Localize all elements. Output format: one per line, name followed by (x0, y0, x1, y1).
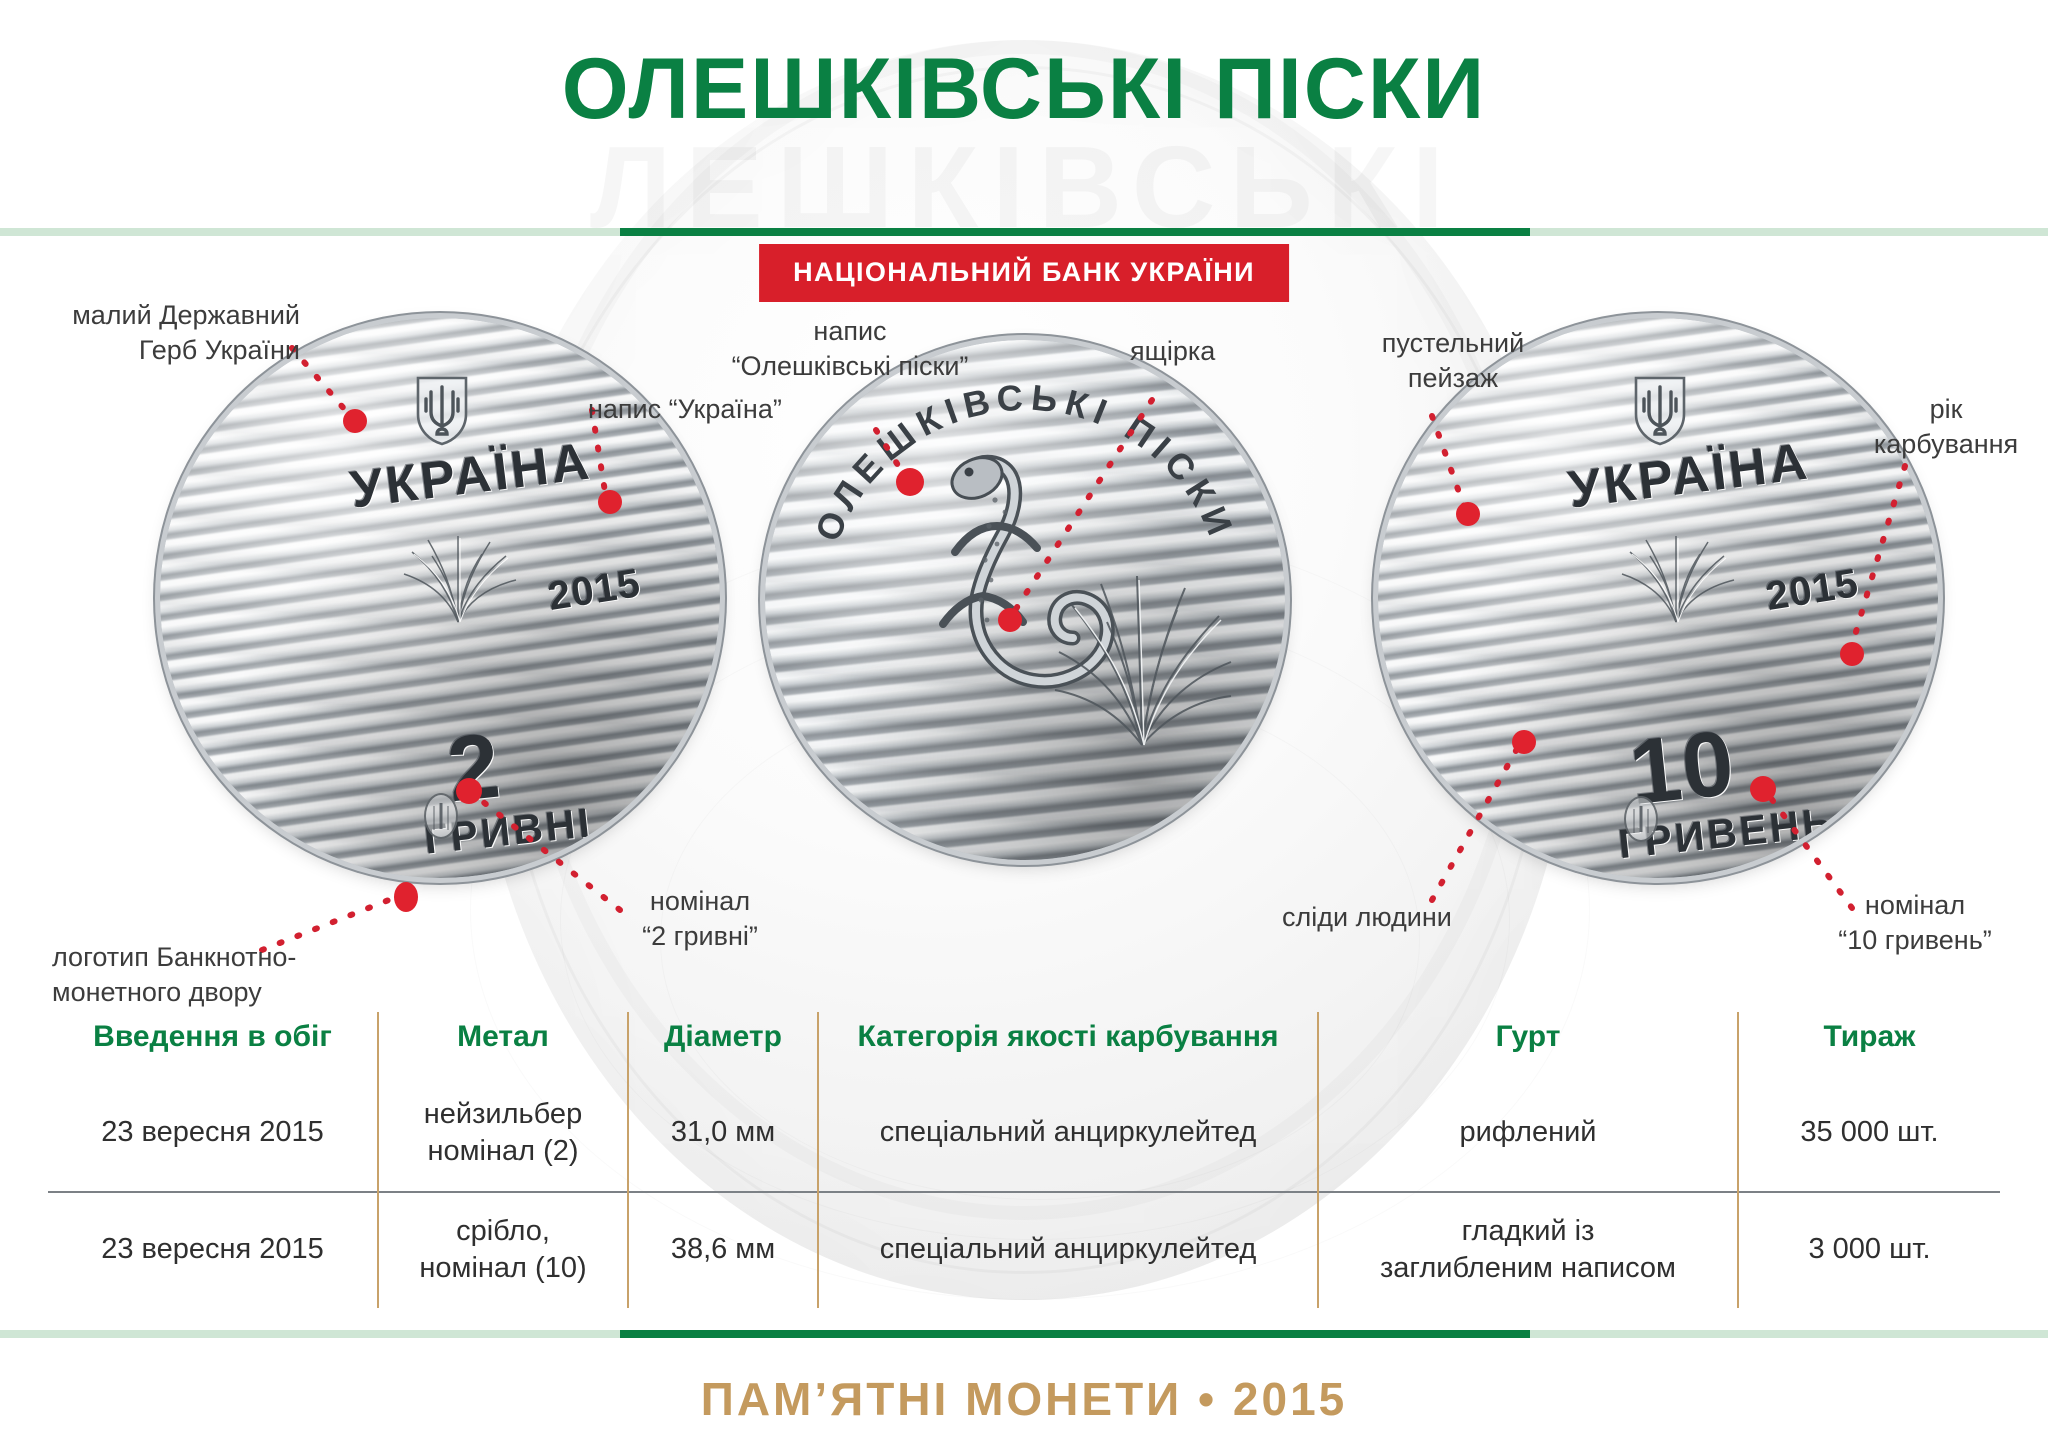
callout-human-footprints: сліди людини (1282, 900, 1522, 935)
page-title-bar: ОЛЕШКІВСЬКІ ПІСКИ (0, 46, 2048, 132)
coin-specifications-table: Введення в обіг Метал Діаметр Категорія … (48, 1012, 2000, 1308)
column-header-quality: Категорія якості карбування (818, 1012, 1318, 1076)
marker-coat-of-arms (343, 409, 367, 433)
column-header-diameter: Діаметр (628, 1012, 818, 1076)
cell-edge: гладкий із заглибленим написом (1318, 1192, 1738, 1308)
bottom-divider-rule (0, 1330, 2048, 1338)
cell-issue-date: 23 вересня 2015 (48, 1192, 378, 1308)
callout-denomination-2: номінал “2 гривні” (590, 884, 810, 953)
infographic-page: ЛЕШКІВСЬКІ ОЛЕШКІВСЬКІ ПІСКИ НАЦІОНАЛЬНИ… (0, 0, 2048, 1448)
page-title: ОЛЕШКІВСЬКІ ПІСКИ (562, 46, 1486, 132)
marker-oleshky-inscription (896, 468, 924, 496)
cell-diameter: 31,0 мм (628, 1076, 818, 1192)
marker-lizard (998, 608, 1022, 632)
callout-mint-logo: логотип Банкнотно- монетного двору (52, 940, 382, 1009)
column-header-mintage: Тираж (1738, 1012, 2000, 1076)
table-header: Введення в обіг Метал Діаметр Категорія … (48, 1012, 2000, 1076)
national-bank-banner: НАЦІОНАЛЬНИЙ БАНК УКРАЇНИ (759, 244, 1289, 302)
table-body: 23 вересня 2015 нейзильбер номінал (2) 3… (48, 1076, 2000, 1308)
callout-oleshky-inscription: напис “Олешківські піски” (700, 314, 1000, 383)
cell-metal: срібло, номінал (10) (378, 1192, 628, 1308)
callout-ukraine-inscription: напис “Україна” (588, 392, 888, 427)
marker-desert-landscape (1456, 502, 1480, 526)
column-header-metal: Метал (378, 1012, 628, 1076)
table-header-row: Введення в обіг Метал Діаметр Категорія … (48, 1012, 2000, 1076)
column-header-issue-date: Введення в обіг (48, 1012, 378, 1076)
marker-ukraine-inscription (598, 490, 622, 514)
cell-metal: нейзильбер номінал (2) (378, 1076, 628, 1192)
cell-diameter: 38,6 мм (628, 1192, 818, 1308)
cell-edge: рифлений (1318, 1076, 1738, 1192)
page-footer: ПАМ’ЯТНІ МОНЕТИ • 2015 (0, 1372, 2048, 1426)
marker-denomination-2 (456, 778, 482, 804)
callout-denomination-10: номінал “10 гривень” (1790, 888, 2040, 957)
table-row: 23 вересня 2015 нейзильбер номінал (2) 3… (48, 1076, 2000, 1192)
cell-quality: спеціальний анциркулейтед (818, 1192, 1318, 1308)
cell-mintage: 3 000 шт. (1738, 1192, 2000, 1308)
cell-quality: спеціальний анциркулейтед (818, 1076, 1318, 1192)
marker-mint-logo (394, 882, 418, 912)
cell-mintage: 35 000 шт. (1738, 1076, 2000, 1192)
marker-human-footprints (1512, 730, 1536, 754)
callout-lizard: ящірка (1130, 334, 1310, 369)
marker-mint-year (1840, 642, 1864, 666)
column-header-edge: Гурт (1318, 1012, 1738, 1076)
callout-mint-year: рік карбування (1846, 392, 2046, 461)
callout-desert-landscape: пустельний пейзаж (1338, 326, 1568, 395)
callout-coat-of-arms: малий Державний Герб України (20, 298, 300, 367)
marker-denomination-10 (1750, 776, 1776, 802)
table-row: 23 вересня 2015 срібло, номінал (10) 38,… (48, 1192, 2000, 1308)
cell-issue-date: 23 вересня 2015 (48, 1076, 378, 1192)
top-divider-rule (0, 228, 2048, 236)
